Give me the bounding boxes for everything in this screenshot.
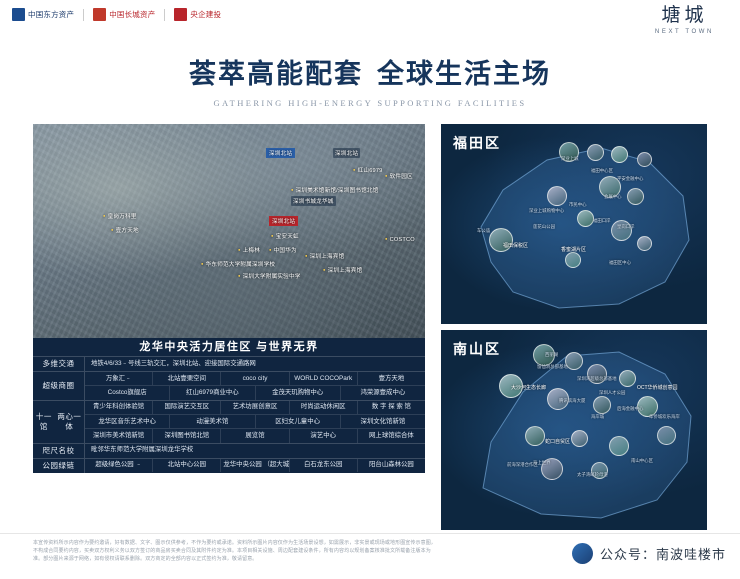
table-cell: 青少年科创体验馆 [85,401,153,414]
brand-mark: 塘城 NEXT TOWN [655,6,714,35]
table-body: 多维交通地铁4/6/33﹣号线三轨交汇，深圳北站、迎接国际交通路网超级商圈万象汇… [33,356,425,473]
map-label: 莲花山公园 [533,224,555,230]
table-cell: 超级绿色公园 ﹣ [85,459,153,472]
logo-divider [164,9,165,21]
logo-divider [83,9,84,21]
table-cell: 龙华区音乐艺术中心 [85,415,170,428]
table-cell: WORLD COCOPark [290,372,358,385]
map-pin-label: 深圳美术馆新馆/深圳图书馆北馆 [291,186,379,194]
map-pin-label: 红山6979 [353,166,382,174]
map-pin-label: 壹方天地 [111,226,139,234]
table-cell: 红山6979商业中心 [170,386,255,399]
table-cell-line: 青少年科创体验馆国际演艺交互区艺术坊展创意区时尚运动休闲区数 字 探 索 馆 [85,401,425,414]
partner-logos: 中国东方资产 中国长城资产 央企建投 [12,8,221,21]
map-photo-bubble [627,188,644,205]
table-row-cells: 地铁4/6/33﹣号线三轨交汇，深圳北站、迎接国际交通路网 [85,357,425,371]
poster-page: 中国东方资产 中国长城资产 央企建投 塘城 NEXT TOWN 荟萃高能配套全球… [0,0,740,579]
logo-changcheng: 中国长城资产 [93,8,155,21]
logo-label: 中国东方资产 [28,9,74,20]
aerial-map-image: 深圳北站深圳北站红山6979软件园区深圳美术馆新馆/深圳图书馆北馆深圳书城龙华城… [33,124,425,338]
logo-dongfang: 中国东方资产 [12,8,74,21]
table-cell: 北站中心公园 [153,459,221,472]
map-label: 市民中心 [569,202,587,208]
table-cell: 艺术坊展创意区 [221,401,289,414]
table-cell: 壹方天地 [358,372,425,385]
logo-label: 中国长城资产 [109,9,155,20]
table-row-label: 十一馆两心一体 [33,401,85,443]
table-row: 十一馆两心一体青少年科创体验馆国际演艺交互区艺术坊展创意区时尚运动休闲区数 字 … [33,400,425,443]
map-pin-label: 深圳北站 [333,148,360,158]
map-label: 深业上城购物中心 [529,208,564,214]
brand-name-en: NEXT TOWN [655,29,714,35]
map-pin-label: 深圳上海宾馆 [305,252,344,260]
map-title: 福田区 [453,133,501,153]
map-pin-label: 深圳上海宾馆 [323,266,362,274]
table-cell-line: 深圳市美术馆新馆深圳图书馆北馆展览馆演艺中心网上球馆综合体 [85,428,425,442]
logo-mark-icon [93,8,106,21]
map-label: 腾讯滨海大厦 [559,398,585,404]
map-label: 福田口岸 [593,218,611,224]
map-photo-bubble [547,186,567,206]
table-cell: coco city [221,372,289,385]
map-label: 华侨城欢乐海岸 [649,414,680,420]
map-pin-label: COSTCO [385,236,415,243]
table-row: 公园绿链超级绿色公园 ﹣北站中心公园龙华中央公园 （超大城市级中央公园）白石龙东… [33,458,425,473]
map-label: 平安金融中心 [617,176,643,182]
table-cell: 演艺中心 [290,429,358,442]
map-label: 深圳湾超级总部基地 [577,376,617,382]
table-cell-line: 毗邻华东师范大学附属深圳龙华学校 [85,444,425,457]
map-label: 西丽湖 [545,352,558,358]
table-cell: 国际演艺交互区 [153,401,221,414]
map-pin-label: 上梅林 [238,246,260,254]
table-cell: 金茂天玑购物中心 [256,386,341,399]
table-cell: 区妇女儿童中心 [256,415,341,428]
map-label: 深业上城 [561,156,579,162]
table-cell: 网上球馆综合体 [358,429,425,442]
title-part-b: 全球生活主场 [377,59,551,89]
table-cell: 深圳图书馆北馆 [153,429,221,442]
table-cell: Costco旗舰店 [85,386,170,399]
map-pin-label: 深圳北站 [266,148,295,158]
map-label: 深圳人才公园 [599,390,625,396]
map-pin-label: 中国华为 [269,246,297,254]
table-cell: 北站壹栗空间 [153,372,221,385]
table-row-cells: 万象汇﹣北站壹栗空间coco cityWORLD COCOPark壹方天地Cos… [85,372,425,400]
map-label: 蛇口自贸区 [545,438,570,445]
map-label: 香蜜湖片区 [561,246,586,253]
map-label: 福田区中心 [609,260,631,266]
logo-mark-icon [12,8,25,21]
table-cell-line: 地铁4/6/33﹣号线三轨交汇，深圳北站、迎接国际交通路网 [85,357,425,370]
map-label: 会展中心 [604,194,622,200]
table-cell: 地铁4/6/33﹣号线三轨交汇，深圳北站、迎接国际交通路网 [85,357,425,370]
logo-mark-icon [174,8,187,21]
logo-jiantou: 央企建投 [174,8,221,21]
map-label: 太子湾邮轮母港 [577,472,608,478]
map-pin-label: 深圳北站 [269,216,298,226]
map-label: 海岸城 [591,414,604,420]
table-cell: 毗邻华东师范大学附属深圳龙华学校 [85,444,425,457]
table-row-label: 多维交通 [33,357,85,371]
table-cell: 展览馆 [221,429,289,442]
map-label: 车公庙 [477,228,490,234]
map-label: 前海深港合作区 [507,462,538,468]
map-pin-label: 皇岗万科里 [103,212,137,220]
table-row: 多维交通地铁4/6/33﹣号线三轨交汇，深圳北站、迎接国际交通路网 [33,356,425,371]
table-cell: 动漫美术馆 [170,415,255,428]
map-photo-bubble [609,436,629,456]
table-cell: 鸿荣源壹成中心 [341,386,425,399]
title-part-a: 荟萃高能配套 [189,59,363,89]
table-cell: 白石龙东公园 [290,459,358,472]
page-title: 荟萃高能配套全球生活主场 [0,52,740,91]
map-pin-label: 深圳大学附属实验中学 [238,272,301,280]
table-row: 咫尺名校毗邻华东师范大学附属深圳龙华学校 [33,443,425,458]
map-photo-bubble [565,252,581,268]
facilities-table: 龙华中央活力居住区 与世界无界 多维交通地铁4/6/33﹣号线三轨交汇，深圳北站… [33,338,425,473]
map-label: 皇岗口岸 [617,224,635,230]
map-photo-bubble [611,146,628,163]
table-cell-line: 龙华区音乐艺术中心动漫美术馆区妇女儿童中心深圳文化馆新馆 [85,414,425,428]
map-pin-label: 软件园区 [385,172,413,180]
map-photo-bubble [525,426,545,446]
logo-label: 央企建投 [190,9,221,20]
map-photo-bubble [637,236,652,251]
table-row-cells: 毗邻华东师范大学附属深圳龙华学校 [85,444,425,458]
map-photo-bubble [637,152,652,167]
map-label: 福田中心区 [591,168,613,174]
map-label: 大沙河生态长廊 [511,384,546,391]
map-pin-label: 华东师范大学附属深圳学校 [201,260,275,268]
avatar [572,543,593,564]
map-pin-label: 宝安天虹 [271,232,299,240]
table-row-label: 咫尺名校 [33,444,85,458]
table-cell-line: 万象汇﹣北站壹栗空间coco cityWORLD COCOPark壹方天地 [85,372,425,385]
district-map-nanshan: 南山区 西丽湖留仙洞总部基地大沙河生态长廊深圳湾超级总部基地深圳人才公园腾讯滨海… [441,330,707,530]
table-row-cells: 青少年科创体验馆国际演艺交互区艺术坊展创意区时尚运动休闲区数 字 探 索 馆龙华… [85,401,425,443]
wechat-label: 公众号：南波哇楼市 [600,544,726,563]
map-title: 南山区 [453,339,501,359]
table-cell: 时尚运动休闲区 [290,401,358,414]
table-cell-line: 超级绿色公园 ﹣北站中心公园龙华中央公园 （超大城市级中央公园）白石龙东公园阳台… [85,459,425,472]
map-photo-bubble [571,430,588,447]
map-photo-bubble [593,396,611,414]
table-cell: 阳台山森林公园 [358,459,425,472]
table-cell: 龙华中央公园 （超大城市级中央公园） [221,459,289,472]
map-pin-label: 深圳书城龙华城 [291,196,336,206]
table-row-cells: 超级绿色公园 ﹣北站中心公园龙华中央公园 （超大城市级中央公园）白石龙东公园阳台… [85,459,425,473]
brand-name-cn: 塘城 [655,6,714,27]
table-row-label: 超级商圈 [33,372,85,400]
map-label: OCT华侨城创意园 [637,384,678,391]
headline-block: 荟萃高能配套全球生活主场 GATHERING HIGH-ENERGY SUPPO… [0,52,740,108]
map-label: 福田保税区 [503,242,528,249]
map-photo-bubble [657,426,676,445]
table-cell: 万象汇﹣ [85,372,153,385]
table-cell: 深圳市美术馆新馆 [85,429,153,442]
wechat-account[interactable]: 公众号：南波哇楼市 [572,543,726,564]
table-row-label: 公园绿链 [33,459,85,473]
disclaimer-text: 本宣传资料所示内容作为要约邀请，好有数据、文字、图示仅供参考，不作为要约或承诺。… [33,540,438,563]
map-label: 留仙洞总部基地 [537,364,568,370]
map-label: 南山中心区 [631,458,653,464]
top-logo-bar: 中国东方资产 中国长城资产 央企建投 塘城 NEXT TOWN [0,0,740,42]
map-photo-bubble [587,144,604,161]
district-map-futian: 福田区 深业上城福田中心区平安金融中心会展中心市民中心深业上城购物中心福田口岸皇… [441,124,707,324]
map-photo-bubble [577,210,594,227]
table-title: 龙华中央活力居住区 与世界无界 [33,338,425,356]
table-row: 超级商圈万象汇﹣北站壹栗空间coco cityWORLD COCOPark壹方天… [33,371,425,400]
table-cell: 数 字 探 索 馆 [358,401,425,414]
table-cell: 深圳文化馆新馆 [341,415,425,428]
table-cell-line: Costco旗舰店红山6979商业中心金茂天玑购物中心鸿荣源壹成中心 [85,385,425,399]
headline-subtitle: GATHERING HIGH-ENERGY SUPPORTING FACILIT… [0,98,740,108]
map-label: 后海金融中心 [617,406,643,412]
map-photo-bubble [619,370,636,387]
